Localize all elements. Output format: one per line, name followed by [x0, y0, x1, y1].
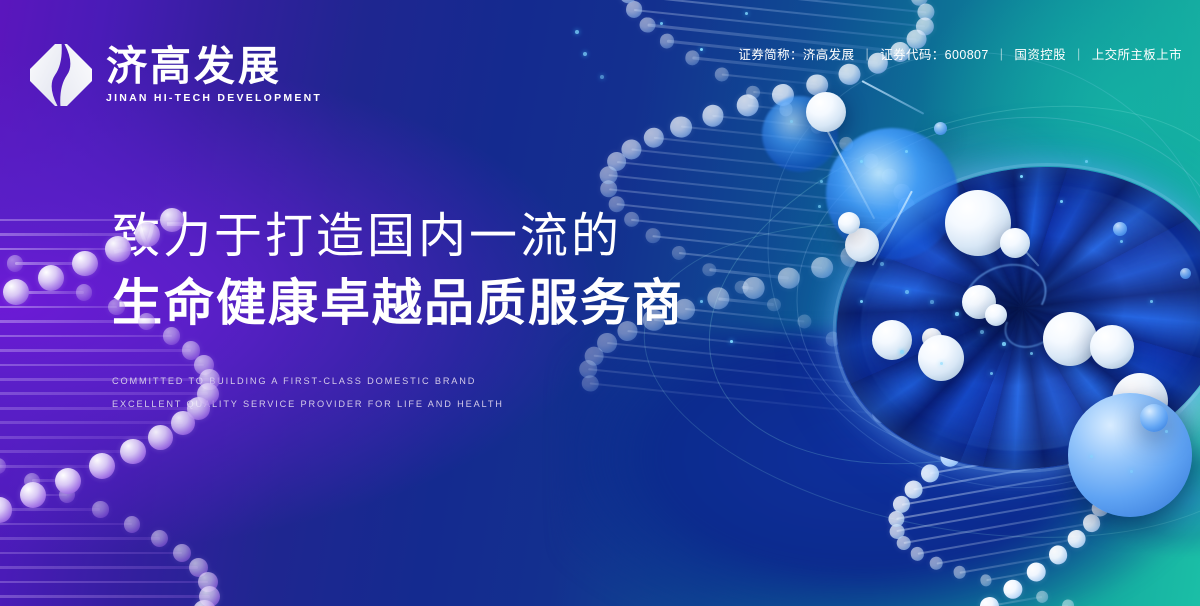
- stock-info-separator-3: |: [1077, 47, 1081, 61]
- brand-name-cn: 济高发展: [106, 46, 322, 88]
- stock-info-separator-1: |: [865, 47, 869, 61]
- headline-line-1: 致力于打造国内一流的: [112, 206, 684, 267]
- brand-logo-text: 济高发展 JINAN HI-TECH DEVELOPMENT: [106, 46, 322, 105]
- stock-info-separator-2: |: [1000, 47, 1004, 61]
- headline: 致力于打造国内一流的 生命健康卓越品质服务商: [112, 206, 684, 336]
- hero-banner: 济高发展 JINAN HI-TECH DEVELOPMENT 证券简称：济高发展…: [0, 0, 1200, 606]
- brand-logo[interactable]: 济高发展 JINAN HI-TECH DEVELOPMENT: [30, 44, 322, 106]
- stock-info-item-exchange: 上交所主板上市: [1092, 44, 1182, 63]
- stock-info-item-code: 证券代码：600807: [880, 44, 989, 63]
- subtitle: COMMITTED TO BUILDING A FIRST-CLASS DOME…: [112, 370, 504, 417]
- headline-line-2: 生命健康卓越品质服务商: [112, 271, 684, 336]
- subtitle-line-1: COMMITTED TO BUILDING A FIRST-CLASS DOME…: [112, 370, 504, 393]
- stock-info-item-abbr: 证券简称：济高发展: [738, 44, 854, 63]
- diamond-leaf-logo-icon: [30, 44, 92, 106]
- banner-content: 济高发展 JINAN HI-TECH DEVELOPMENT 证券简称：济高发展…: [0, 0, 1200, 606]
- stock-info-item-ownership: 国资控股: [1014, 44, 1066, 63]
- subtitle-line-2: EXCELLENT QUALITY SERVICE PROVIDER FOR L…: [112, 393, 504, 416]
- brand-name-en: JINAN HI-TECH DEVELOPMENT: [106, 92, 322, 104]
- stock-info-bar: 证券简称：济高发展 | 证券代码：600807 | 国资控股 | 上交所主板上市: [738, 44, 1182, 63]
